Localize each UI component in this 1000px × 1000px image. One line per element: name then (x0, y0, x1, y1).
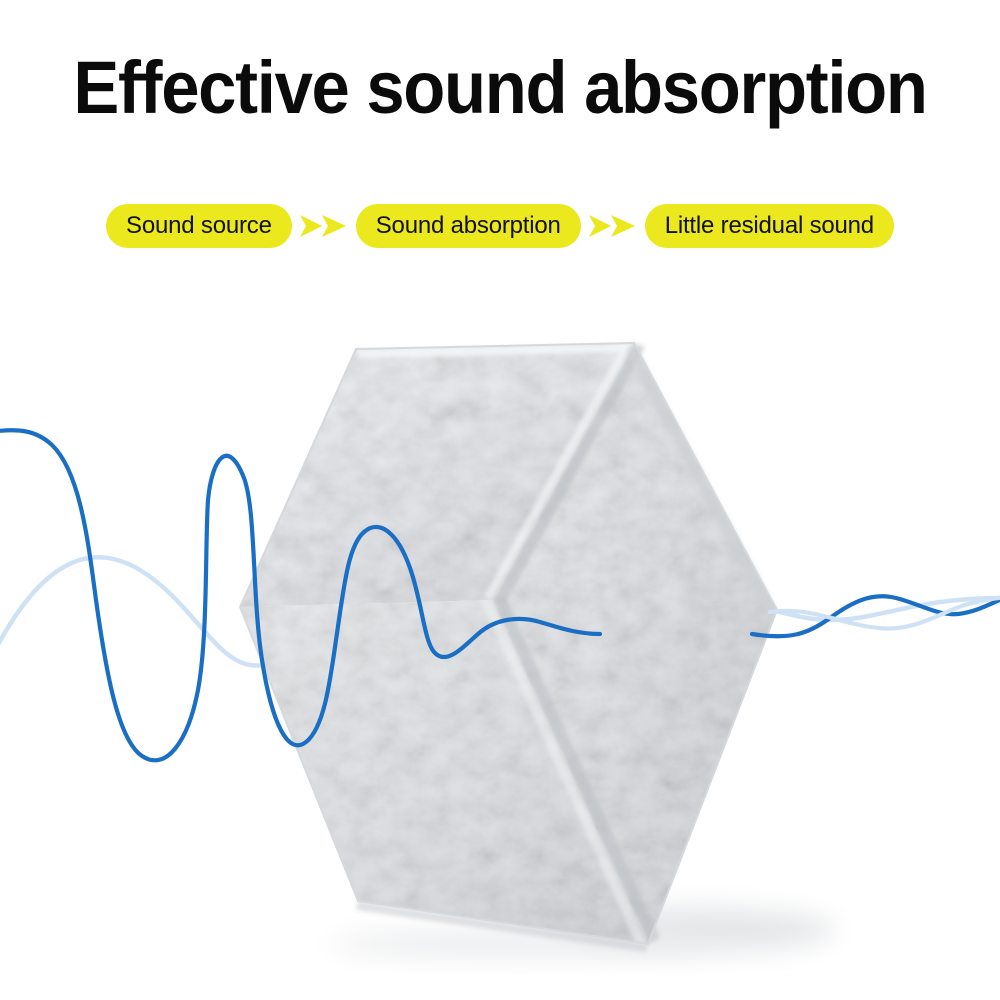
promo-image-canvas: Effective sound absorption Sound source … (0, 0, 1000, 1000)
product-illustration (0, 0, 1000, 1000)
